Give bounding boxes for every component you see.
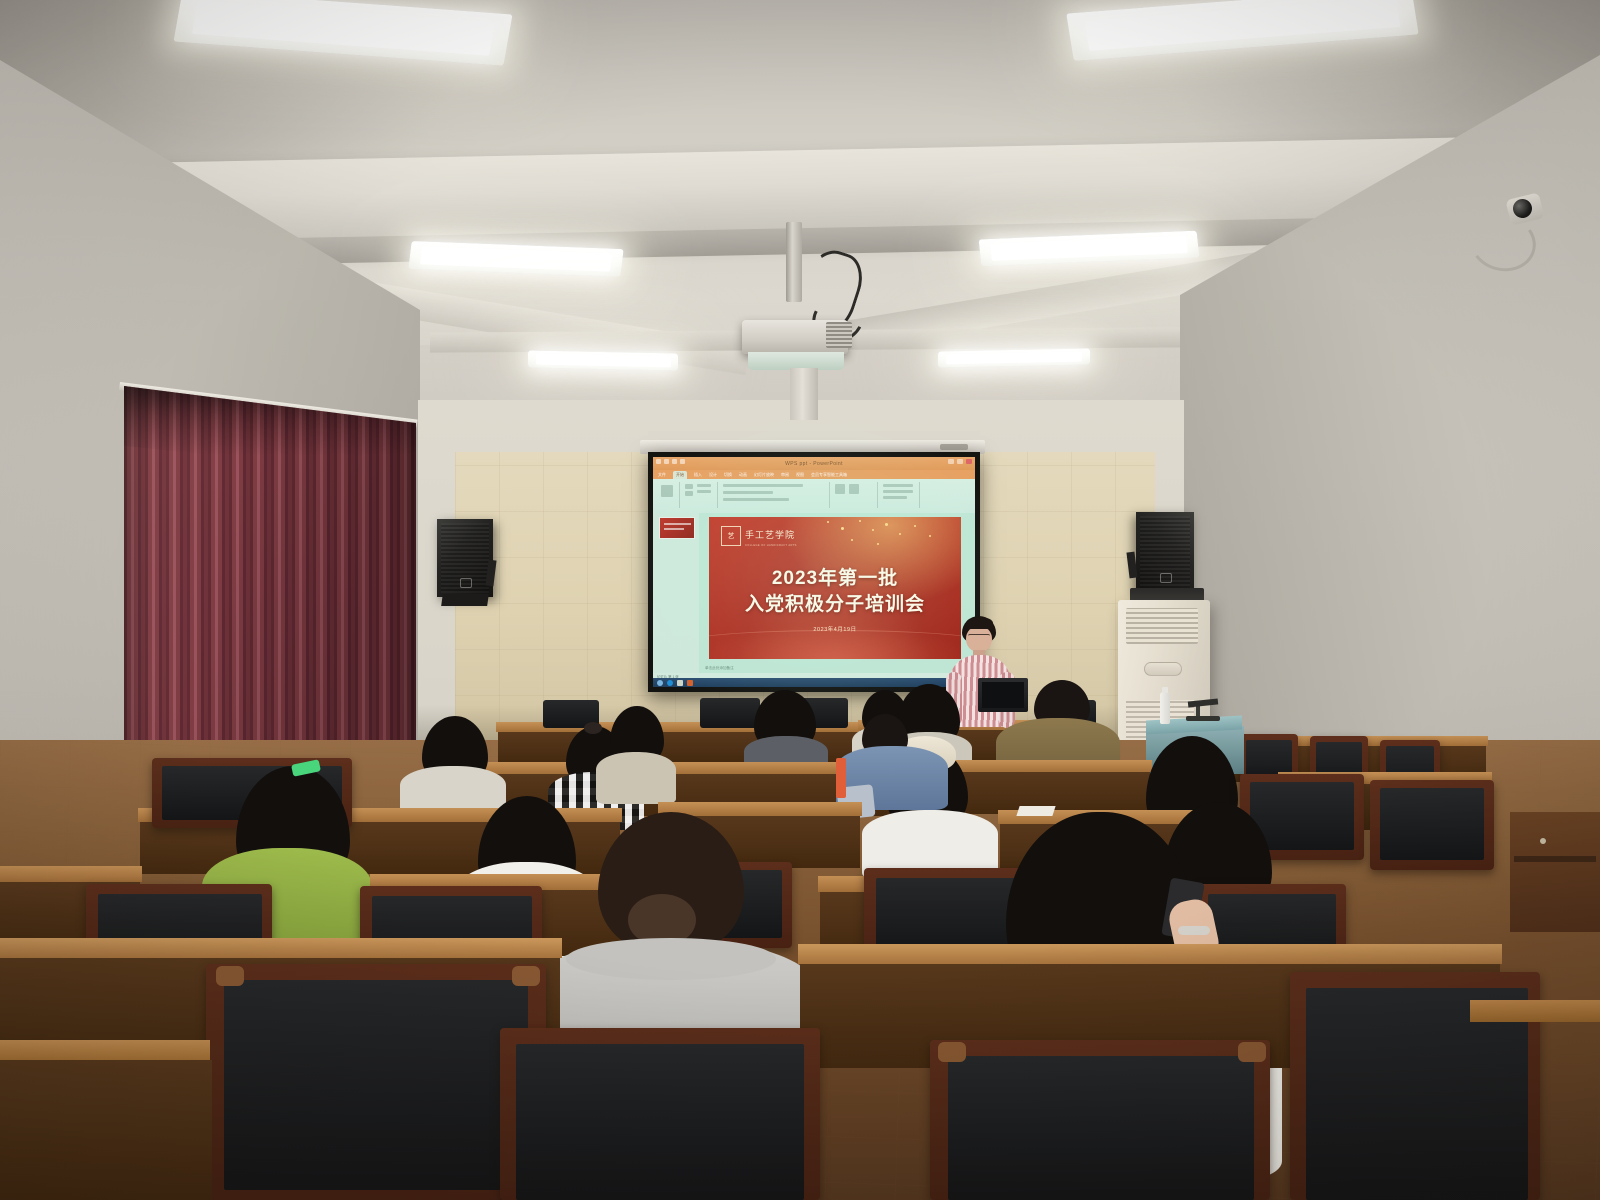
water-bottle[interactable] [1160,692,1170,724]
ppt-ribbon[interactable] [653,479,975,513]
chair-front-3-pad [948,1056,1254,1200]
speaker-bracket-left [441,594,489,606]
chair-row1-2[interactable] [700,698,760,728]
student-plaid-scrunchie [584,722,602,734]
speaker-logo-right [1160,573,1172,583]
desk-row4-farleft-top [0,866,142,882]
ac-vent [1126,608,1198,644]
presenter-glasses-icon [968,634,990,640]
chair-front-3-knob2 [1238,1042,1266,1062]
ppt-tab-file[interactable]: 文件 [658,472,666,478]
institution-name-en: COLLEGE OF HANDICRAFT ARTS [745,544,797,547]
ppt-window-buttons[interactable] [948,459,972,464]
student-bracelet [1178,926,1210,935]
water-bottle-cap [1162,687,1168,693]
slide-date: 2023年4月19日 [709,625,961,633]
projector-column [790,368,818,420]
ppt-tab-design[interactable]: 设计 [709,472,717,478]
ppt-ribbon-tabs[interactable]: 文件 开始 插入 设计 切换 动画 幻灯片放映 审阅 视图 会员专享智能工具箱 [653,470,975,479]
ppt-title-text: WPS ppt - PowerPoint [785,461,843,467]
ppt-tab-home[interactable]: 开始 [673,471,687,479]
institution-seal-icon: 艺 [721,526,741,546]
chair-front-3-knob [938,1042,966,1062]
taskbar-icon-browser[interactable] [657,680,663,686]
chair-row3-r2-pad [1380,788,1484,860]
podium-monitor-screen [982,682,1024,708]
cabinet-seam [1514,856,1596,862]
slide-heading-line2: 入党积极分子培训会 [709,589,961,616]
student-hoodie-hood [566,938,776,980]
slide-wave-line [709,630,961,655]
taskbar-icon-explorer[interactable] [677,680,683,686]
ppt-quick-access-toolbar[interactable] [656,459,685,464]
ppt-tab-slideshow[interactable]: 幻灯片放映 [754,472,774,478]
student-beige-body [596,752,676,804]
side-cabinet [1510,812,1600,932]
chair-row4-4-pad [876,878,1024,954]
ppt-tab-view[interactable]: 视图 [796,472,804,478]
ppt-tab-insert[interactable]: 插入 [694,472,702,478]
ppt-slide-thumbnail[interactable] [659,517,695,539]
ppt-tab-transitions[interactable]: 切换 [724,472,732,478]
paper-1 [1016,806,1055,816]
institution-name: 手工艺学院 [745,530,795,540]
slide-heading-line1: 2023年第一批 [709,563,961,590]
ceiling-light-back-right [938,348,1090,367]
chair-front-2-pad [516,1044,804,1200]
desk-lamp-base [1186,716,1220,721]
cabinet-lock-icon [1540,838,1546,844]
presenter-fringe [966,617,993,629]
ppt-title-bar: WPS ppt - PowerPoint [653,457,975,470]
ppt-notes-placeholder[interactable]: 单击此处添加备注 [705,666,734,671]
slide-content: 艺 手工艺学院 COLLEGE OF HANDICRAFT ARTS 2023年… [709,517,961,659]
chair-front-1-pad [224,980,528,1190]
taskbar-icon-powerpoint[interactable] [687,680,693,686]
taskbar-icon-edge[interactable] [667,680,673,686]
slide-institution-logo: 艺 手工艺学院 COLLEGE OF HANDICRAFT ARTS [721,525,797,547]
ceiling-light-back-left [528,350,678,370]
screen-housing-label [940,444,968,450]
desk-front-farright-top [1470,1000,1600,1022]
screen-surface: WPS ppt - PowerPoint 文件 开始 插入 设计 切换 动画 幻… [653,457,975,687]
chair-front-1-knob2 [512,966,540,986]
desk-marker [836,758,846,798]
ppt-tab-animations[interactable]: 动画 [739,472,747,478]
ac-brand-badge [1144,662,1182,676]
desk-front-farleft [0,1060,212,1200]
desk-row2-left-top [468,762,892,774]
projector-vent [826,322,852,348]
ppt-tab-review[interactable]: 审阅 [781,472,789,478]
chair-front-1-knob [216,966,244,986]
ppt-tab-toolbox[interactable]: 会员专享智能工具箱 [811,472,847,478]
lecture-room-photo: WPS ppt - PowerPoint 文件 开始 插入 设计 切换 动画 幻… [0,0,1600,1200]
desk-front-left-top [0,938,562,958]
speaker-logo-left [460,578,472,588]
projection-screen[interactable]: WPS ppt - PowerPoint 文件 开始 插入 设计 切换 动画 幻… [648,452,980,692]
desk-front-right-top [798,944,1502,964]
